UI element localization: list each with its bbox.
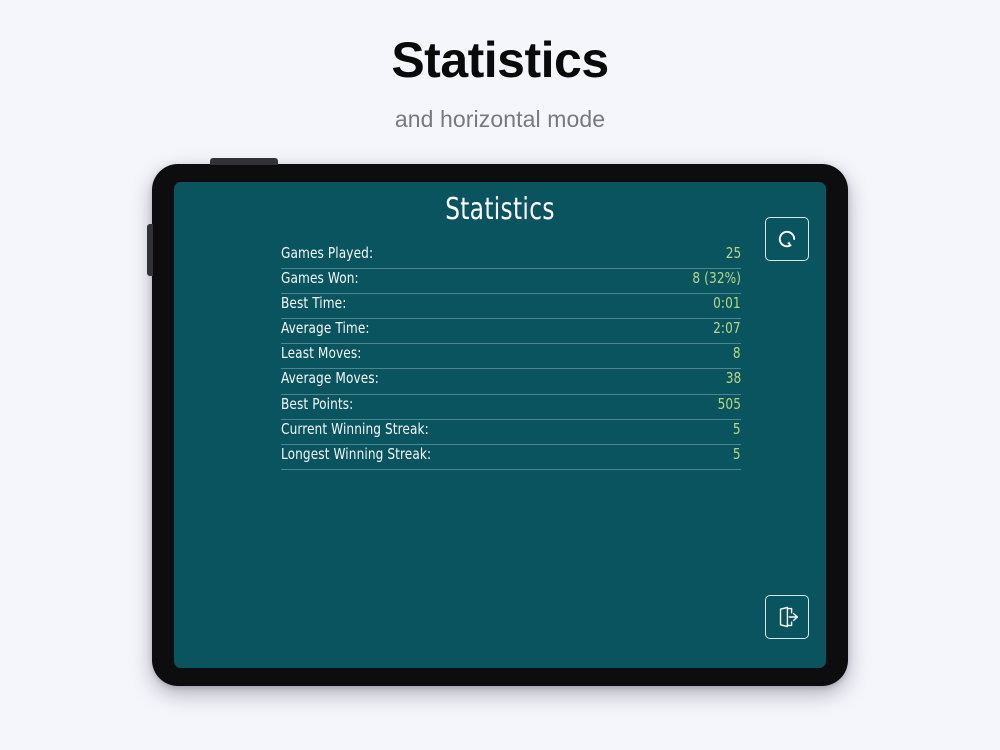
power-button[interactable] [210,158,278,165]
stat-value: 5 [733,445,741,463]
tablet-device: Statistics [152,164,848,686]
stat-value: 25 [725,244,741,262]
reset-statistics-button[interactable] [765,217,809,261]
stat-value: 0:01 [713,294,741,312]
stat-label: Best Time: [281,294,346,312]
table-row: Best Points: 505 [281,395,741,420]
page-header: Statistics and horizontal mode [0,0,1000,133]
stat-value: 505 [718,395,741,413]
statistics-table: Games Played: 25 Games Won: 8 (32%) Best… [281,244,741,470]
stat-label: Games Played: [281,244,373,262]
stat-value: 38 [725,369,741,387]
stat-value: 8 (32%) [692,269,741,287]
stat-label: Best Points: [281,395,353,413]
table-row: Best Time: 0:01 [281,294,741,319]
tablet-screen: Statistics [174,182,826,668]
table-row: Current Winning Streak: 5 [281,420,741,445]
table-row: Games Played: 25 [281,244,741,269]
table-row: Games Won: 8 (32%) [281,269,741,294]
stat-label: Longest Winning Streak: [281,445,431,463]
stat-value: 2:07 [713,319,741,337]
stat-label: Least Moves: [281,344,361,362]
stat-label: Average Moves: [281,369,379,387]
table-row: Average Moves: 38 [281,369,741,394]
table-row: Average Time: 2:07 [281,319,741,344]
page-subtitle: and horizontal mode [0,106,1000,133]
stat-value: 8 [733,344,741,362]
stat-label: Average Time: [281,319,370,337]
table-row: Longest Winning Streak: 5 [281,445,741,470]
app-title: Statistics [220,192,781,227]
stat-value: 5 [733,420,741,438]
table-row: Least Moves: 8 [281,344,741,369]
volume-button[interactable] [147,224,153,276]
exit-door-icon [774,604,800,630]
stat-label: Games Won: [281,269,359,287]
stat-label: Current Winning Streak: [281,420,429,438]
refresh-icon [774,226,800,252]
exit-button[interactable] [765,595,809,639]
page-title: Statistics [0,32,1000,90]
